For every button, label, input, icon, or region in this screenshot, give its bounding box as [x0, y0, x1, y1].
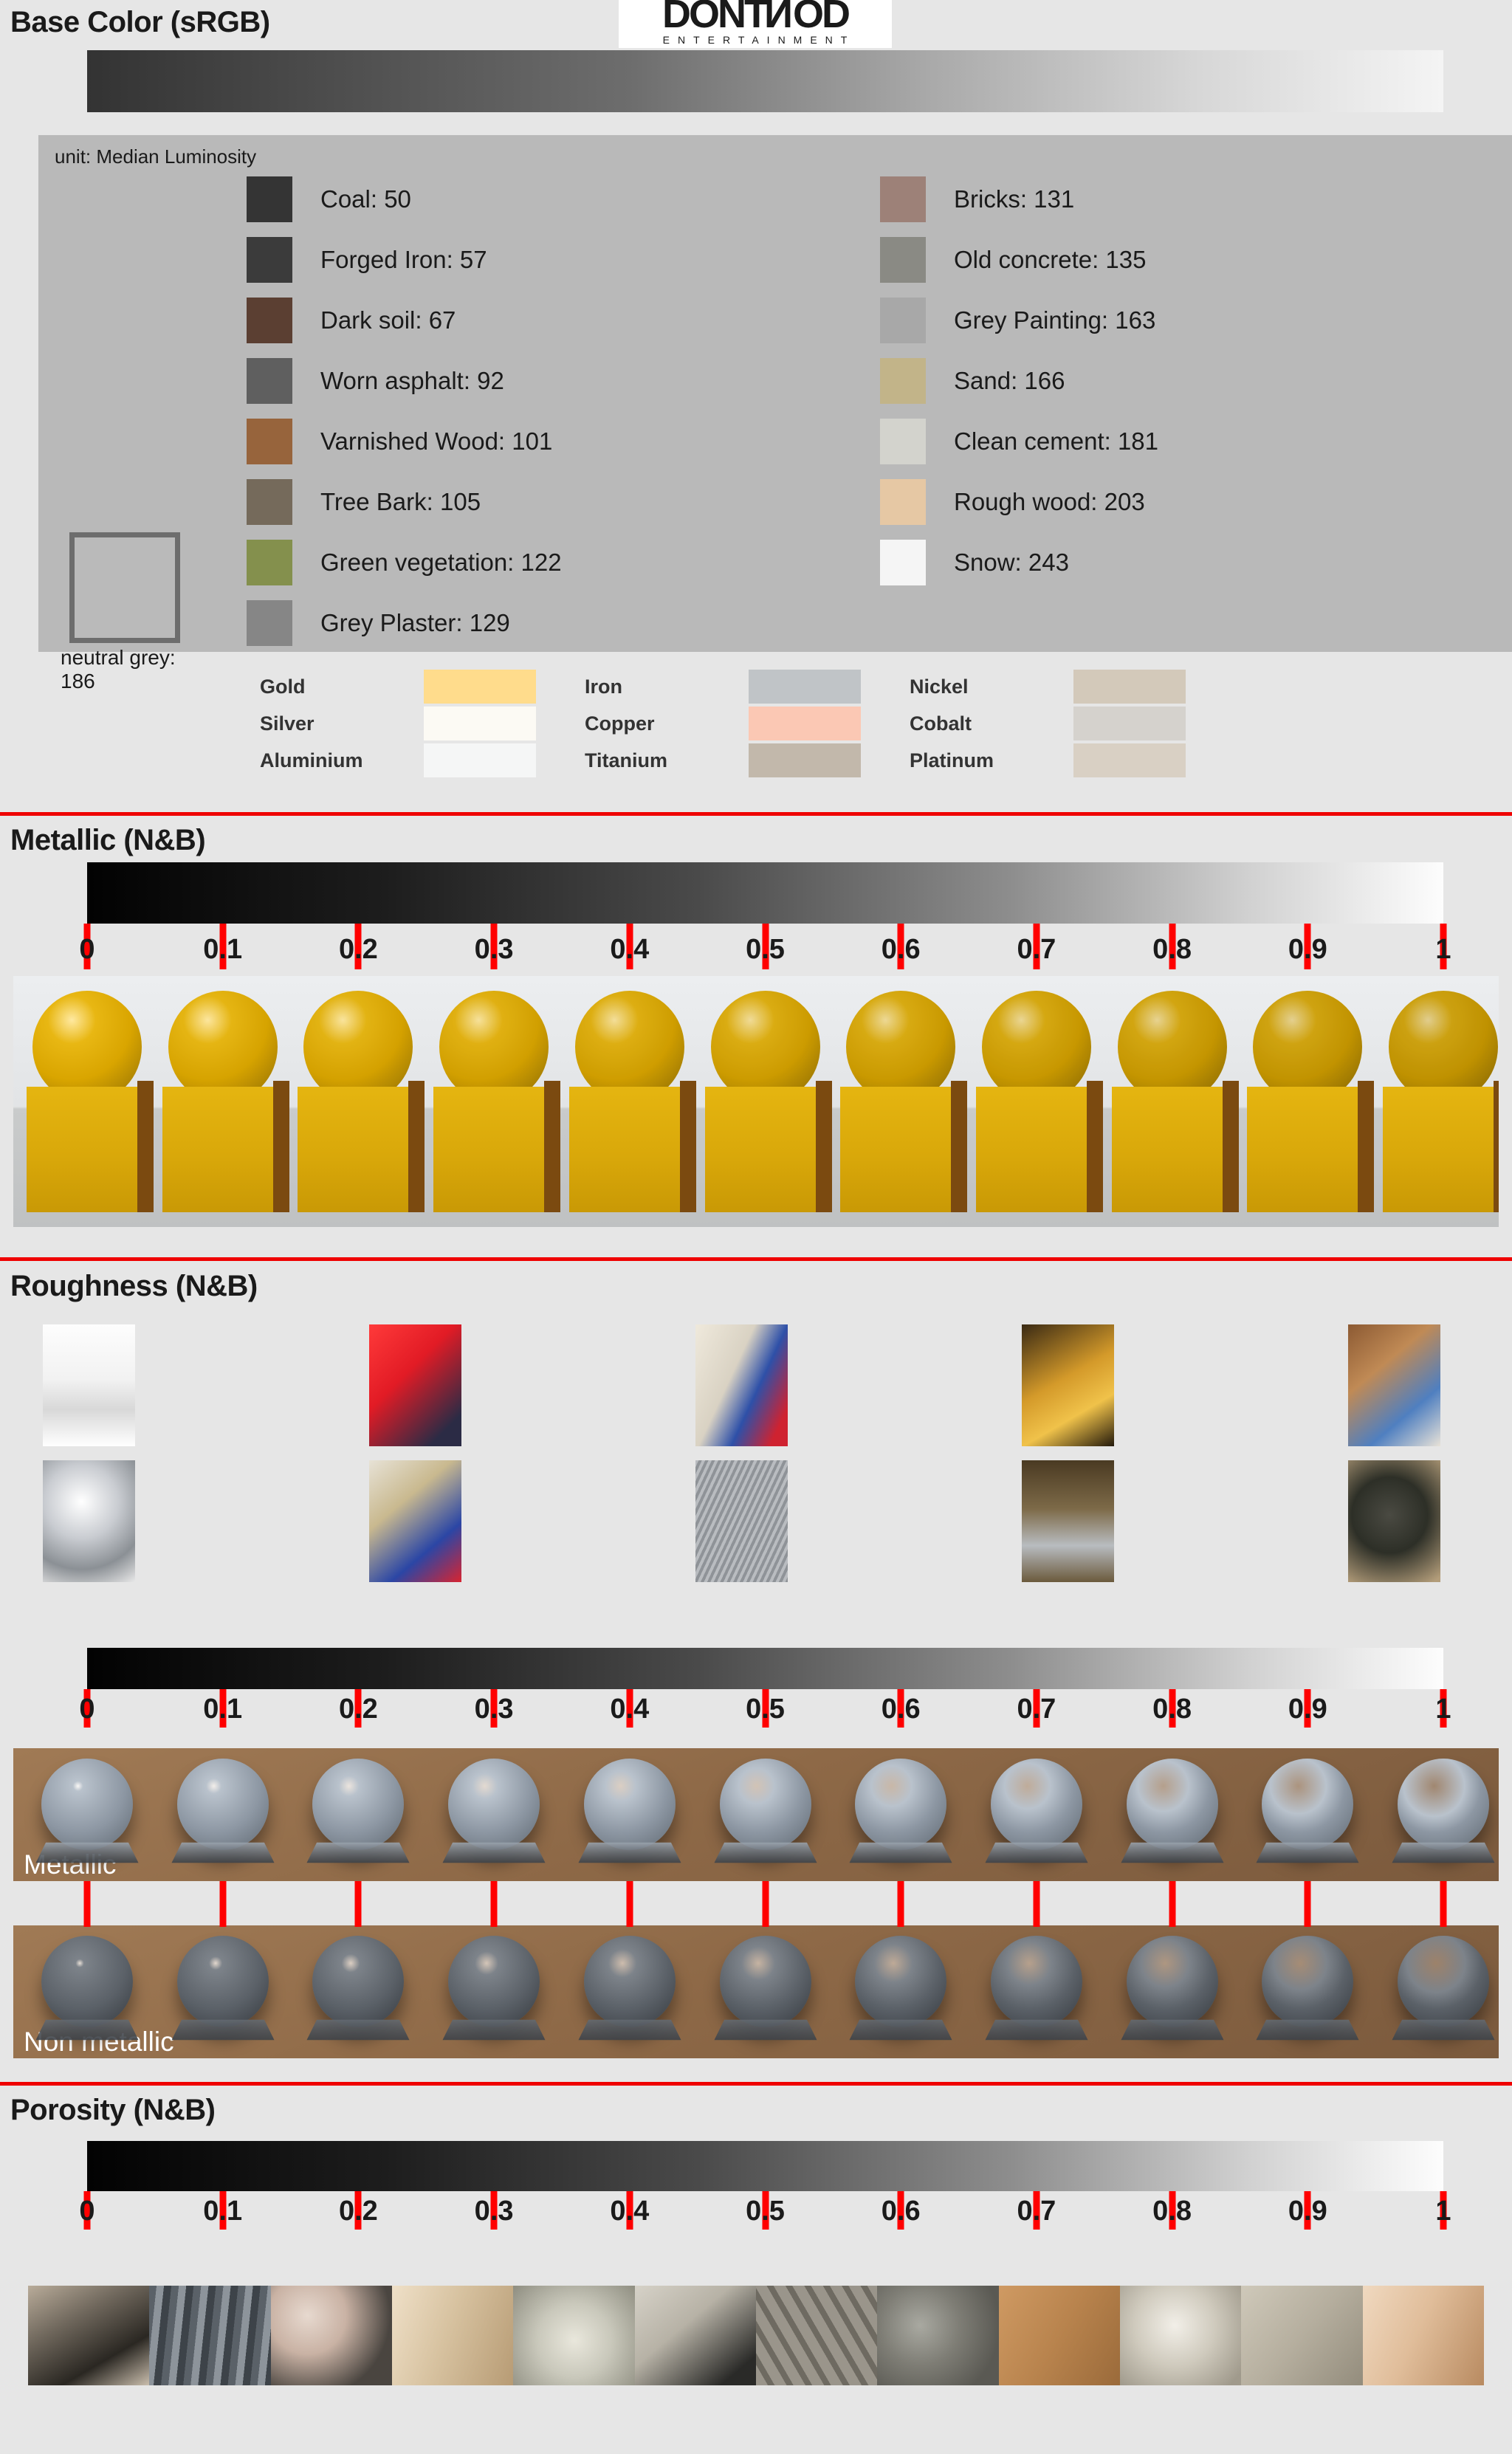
porosity-reference-photo — [635, 2286, 757, 2385]
color-swatch — [247, 237, 292, 283]
list-item: Worn asphalt: 92 — [247, 351, 562, 411]
scale-tick-label: 0.2 — [339, 934, 378, 966]
table-row: Aluminium Titanium Platinum — [260, 742, 1234, 779]
roughness-metal-sphere — [991, 1759, 1082, 1850]
metallic-sample — [972, 991, 1102, 1220]
metallic-sample — [836, 991, 966, 1220]
color-swatch — [247, 419, 292, 464]
metal-label: Silver — [260, 712, 424, 735]
roughness-reference-photo — [695, 1324, 788, 1446]
section-divider — [0, 812, 1512, 816]
swatch-label: Rough wood: 203 — [954, 488, 1145, 516]
scale-tick — [219, 1881, 226, 1927]
scale-tick-label: 0.4 — [610, 1694, 649, 1725]
section-title-metallic: Metallic (N&B) — [0, 818, 205, 857]
sphere-base-plate — [307, 1843, 410, 1863]
scale-tick-label: 0.7 — [1017, 934, 1056, 966]
scale-tick-label: 0 — [79, 934, 94, 966]
scale-tick-label: 0 — [79, 2196, 94, 2227]
metallic-sample — [158, 991, 288, 1220]
color-swatch — [880, 176, 926, 222]
porosity-reference-strip — [28, 2286, 1484, 2385]
scale-tick — [762, 1881, 769, 1927]
porosity-reference-photo — [877, 2286, 999, 2385]
metallic-sample — [1378, 991, 1499, 1220]
scale-tick-label: 0.1 — [203, 1694, 242, 1725]
section-title-porosity: Porosity (N&B) — [0, 2088, 215, 2127]
metallic-cube-side — [680, 1081, 696, 1212]
porosity-reference-photo — [28, 2286, 150, 2385]
scale-tick-label: 0.6 — [882, 2196, 921, 2227]
color-swatch — [880, 540, 926, 585]
metal-swatch — [424, 670, 536, 704]
roughness-dielectric-sphere — [720, 1936, 811, 2027]
scale-tick — [84, 1881, 91, 1927]
porosity-reference-photo — [271, 2286, 393, 2385]
porosity-reference-photo — [756, 2286, 878, 2385]
metal-label: Iron — [585, 676, 749, 698]
roughness-reference-photo — [1022, 1460, 1114, 1582]
sphere-base-plate — [35, 1843, 138, 1863]
sphere-base-plate — [850, 1843, 952, 1863]
dontnod-logo: DONTNOD ENTERTAINMENT — [619, 0, 892, 48]
roughness-metal-sphere — [720, 1759, 811, 1850]
scale-tick-label: 0.6 — [882, 934, 921, 966]
scale-tick-label: 1 — [1435, 1694, 1451, 1725]
metallic-sample — [1243, 991, 1372, 1220]
list-item: Forged Iron: 57 — [247, 230, 562, 290]
color-swatch — [880, 479, 926, 525]
list-item: Sand: 166 — [880, 351, 1158, 411]
metallic-cube — [1112, 1087, 1223, 1212]
neutral-grey-swatch — [69, 532, 180, 643]
scale-tick-label: 0.8 — [1152, 1694, 1192, 1725]
metal-entry: Gold — [260, 670, 585, 704]
scale-tick — [1033, 1881, 1039, 1927]
sphere-base-plate — [443, 1843, 546, 1863]
color-swatch — [247, 479, 292, 525]
metallic-viewport — [13, 976, 1499, 1227]
section-divider — [0, 2082, 1512, 2086]
metal-entry: Silver — [260, 707, 585, 740]
scale-tick-label: 0.7 — [1017, 2196, 1056, 2227]
scale-tick-label: 1 — [1435, 2196, 1451, 2227]
metal-label: Platinum — [910, 749, 1073, 772]
porosity-reference-photo — [1241, 2286, 1363, 2385]
roughness-reference-photo — [43, 1460, 135, 1582]
metal-swatch — [749, 743, 861, 777]
roughness-nonmetallic-row: Non metallic — [13, 1925, 1499, 2058]
scale-tick-label: 0.2 — [339, 2196, 378, 2227]
scale-tick-label: 0.6 — [882, 1694, 921, 1725]
metal-swatch — [1073, 743, 1186, 777]
sphere-base-plate — [1121, 2020, 1223, 2040]
base-color-gradient-bar — [87, 50, 1443, 112]
roughness-reference-grid — [0, 1314, 1512, 1587]
porosity-gradient-bar — [87, 2141, 1443, 2191]
metallic-sample — [293, 991, 423, 1220]
color-swatch — [247, 600, 292, 646]
metallic-cube — [298, 1087, 408, 1212]
metal-entry: Titanium — [585, 743, 910, 777]
roughness-metal-sphere — [584, 1759, 676, 1850]
metallic-cube-side — [1494, 1081, 1499, 1212]
scale-tick — [626, 1881, 633, 1927]
swatch-label: Coal: 50 — [320, 185, 411, 213]
scale-tick-label: 0.4 — [610, 934, 649, 966]
metals-table: Gold Iron Nickel Silver Copper Cobalt Al… — [260, 668, 1234, 779]
swatch-label: Green vegetation: 122 — [320, 549, 562, 577]
metallic-gradient-bar — [87, 862, 1443, 924]
metal-entry: Cobalt — [910, 707, 1234, 740]
scale-tick — [1440, 1881, 1447, 1927]
roughness-reference-photo — [43, 1324, 135, 1446]
scale-tick-label: 0.9 — [1288, 934, 1327, 966]
roughness-dielectric-sphere — [584, 1936, 676, 2027]
metal-label: Cobalt — [910, 712, 1073, 735]
scale-tick — [355, 1881, 362, 1927]
metal-label: Aluminium — [260, 749, 424, 772]
list-item: Tree Bark: 105 — [247, 472, 562, 532]
sphere-base-plate — [1121, 1843, 1223, 1863]
roughness-metal-sphere — [1262, 1759, 1353, 1850]
sphere-base-plate — [714, 1843, 817, 1863]
scale-tick-label: 0.7 — [1017, 1694, 1056, 1725]
sphere-base-plate — [35, 2020, 138, 2040]
metal-entry: Platinum — [910, 743, 1234, 777]
metal-entry: Nickel — [910, 670, 1234, 704]
roughness-metal-sphere — [448, 1759, 540, 1850]
scale-tick-label: 0 — [79, 1694, 94, 1725]
metallic-cube-side — [544, 1081, 560, 1212]
roughness-metal-sphere — [1127, 1759, 1218, 1850]
color-swatch — [880, 419, 926, 464]
roughness-dielectric-sphere — [1398, 1936, 1489, 2027]
scale-tick-label: 0.3 — [475, 934, 514, 966]
metallic-sphere-cube-row — [13, 976, 1499, 1227]
sphere-base-plate — [985, 2020, 1087, 2040]
metal-entry: Copper — [585, 707, 910, 740]
roughness-dielectric-sphere — [1262, 1936, 1353, 2027]
logo-wordmark: DONTNOD — [619, 0, 892, 33]
scale-tick-label: 0.5 — [746, 934, 785, 966]
metal-entry: Iron — [585, 670, 910, 704]
scale-tick — [898, 1881, 904, 1927]
list-item: Varnished Wood: 101 — [247, 411, 562, 472]
metallic-cube — [569, 1087, 680, 1212]
swatch-label: Sand: 166 — [954, 367, 1065, 395]
metallic-cube — [27, 1087, 137, 1212]
metallic-cube-side — [951, 1081, 967, 1212]
roughness-metal-sphere — [855, 1759, 946, 1850]
scale-tick — [1169, 1881, 1175, 1927]
metallic-cube-side — [1223, 1081, 1239, 1212]
base-color-legend-panel: unit: Median Luminosity neutral grey: 18… — [38, 135, 1512, 652]
scale-tick-label: 0.9 — [1288, 1694, 1327, 1725]
metal-label: Copper — [585, 712, 749, 735]
roughness-dielectric-sphere — [1127, 1936, 1218, 2027]
metal-swatch — [749, 707, 861, 740]
sphere-base-plate — [985, 1843, 1087, 1863]
metallic-sample — [429, 991, 559, 1220]
scale-tick-label: 0.9 — [1288, 2196, 1327, 2227]
roughness-reference-photo — [369, 1324, 461, 1446]
section-title-roughness: Roughness (N&B) — [0, 1264, 258, 1303]
porosity-reference-photo — [1363, 2286, 1484, 2385]
table-row: Gold Iron Nickel — [260, 668, 1234, 705]
roughness-dielectric-sphere — [312, 1936, 404, 2027]
color-swatch — [880, 237, 926, 283]
metallic-cube-side — [273, 1081, 289, 1212]
metallic-sample — [701, 991, 831, 1220]
swatch-label: Worn asphalt: 92 — [320, 367, 504, 395]
metallic-cube — [433, 1087, 544, 1212]
roughness-reference-photo — [1348, 1324, 1440, 1446]
roughness-scale: 00.10.20.30.40.50.60.70.80.91 — [0, 1689, 1512, 1726]
section-base-color: Base Color (sRGB) DONTNOD ENTERTAINMENT … — [0, 0, 1512, 39]
list-item: Bricks: 131 — [880, 169, 1158, 230]
porosity-reference-photo — [149, 2286, 271, 2385]
metallic-cube — [162, 1087, 273, 1212]
metallic-cube — [705, 1087, 816, 1212]
sphere-base-plate — [443, 2020, 546, 2040]
metallic-cube — [1247, 1087, 1358, 1212]
metal-entry: Aluminium — [260, 743, 585, 777]
metallic-sample — [1107, 991, 1237, 1220]
metal-label: Gold — [260, 676, 424, 698]
swatch-label: Grey Painting: 163 — [954, 306, 1155, 334]
logo-subtitle: ENTERTAINMENT — [619, 33, 892, 48]
scale-tick-label: 0.3 — [475, 1694, 514, 1725]
sphere-base-plate — [850, 2020, 952, 2040]
list-item: Grey Painting: 163 — [880, 290, 1158, 351]
scale-tick-label: 0.1 — [203, 2196, 242, 2227]
list-item: Grey Plaster: 129 — [247, 593, 562, 653]
sphere-base-plate — [714, 2020, 817, 2040]
list-item: Rough wood: 203 — [880, 472, 1158, 532]
metal-label: Titanium — [585, 749, 749, 772]
swatch-label: Bricks: 131 — [954, 185, 1074, 213]
metal-swatch — [749, 670, 861, 704]
roughness-dielectric-sphere — [41, 1936, 133, 2027]
scale-tick-label: 0.1 — [203, 934, 242, 966]
scale-tick-label: 0.8 — [1152, 934, 1192, 966]
scale-tick-label: 0.8 — [1152, 2196, 1192, 2227]
scale-tick — [1305, 1881, 1311, 1927]
sphere-base-plate — [578, 1843, 681, 1863]
color-swatch — [247, 358, 292, 404]
swatch-label: Dark soil: 67 — [320, 306, 456, 334]
scale-tick-label: 0.5 — [746, 2196, 785, 2227]
sphere-base-plate — [307, 2020, 410, 2040]
metal-label: Nickel — [910, 676, 1073, 698]
metallic-cube — [1383, 1087, 1494, 1212]
metallic-cube-side — [408, 1081, 425, 1212]
roughness-reference-photo — [695, 1460, 788, 1582]
roughness-dielectric-sphere — [448, 1936, 540, 2027]
metal-swatch — [1073, 670, 1186, 704]
roughness-metal-sphere — [41, 1759, 133, 1850]
metallic-cube-side — [1358, 1081, 1374, 1212]
list-item: Snow: 243 — [880, 532, 1158, 593]
porosity-reference-photo — [513, 2286, 635, 2385]
porosity-reference-photo — [999, 2286, 1121, 2385]
list-item: Green vegetation: 122 — [247, 532, 562, 593]
metallic-cube — [976, 1087, 1087, 1212]
scale-tick — [491, 1881, 498, 1927]
roughness-dielectric-sphere — [991, 1936, 1082, 2027]
scale-tick-label: 0.5 — [746, 1694, 785, 1725]
list-item: Dark soil: 67 — [247, 290, 562, 351]
metallic-scale: 00.10.20.30.40.50.60.70.80.91 — [0, 924, 1512, 968]
color-swatch — [880, 358, 926, 404]
metallic-cube-side — [137, 1081, 154, 1212]
roughness-reference-photo — [369, 1460, 461, 1582]
metallic-cube-side — [1087, 1081, 1103, 1212]
porosity-reference-photo — [392, 2286, 514, 2385]
scale-tick-label: 1 — [1435, 934, 1451, 966]
list-item: Old concrete: 135 — [880, 230, 1158, 290]
roughness-reference-photo — [1348, 1460, 1440, 1582]
base-color-list-left: Coal: 50 Forged Iron: 57 Dark soil: 67 W… — [247, 169, 562, 653]
neutral-grey-label: neutral grey: 186 — [61, 646, 193, 693]
metallic-cube-side — [816, 1081, 832, 1212]
roughness-dielectric-sphere — [177, 1936, 269, 2027]
metal-swatch — [1073, 707, 1186, 740]
sphere-base-plate — [578, 2020, 681, 2040]
color-swatch — [247, 176, 292, 222]
metallic-cube — [840, 1087, 951, 1212]
scale-tick-label: 0.2 — [339, 1694, 378, 1725]
metallic-sample — [565, 991, 695, 1220]
list-item: Clean cement: 181 — [880, 411, 1158, 472]
scale-tick-bridges — [0, 1881, 1512, 1927]
metallic-sample — [22, 991, 152, 1220]
roughness-metallic-row: Metallic — [13, 1748, 1499, 1881]
unit-label: unit: Median Luminosity — [55, 145, 256, 168]
sphere-base-plate — [171, 1843, 274, 1863]
roughness-reference-photo — [1022, 1324, 1114, 1446]
roughness-metal-sphere — [312, 1759, 404, 1850]
roughness-metal-sphere — [177, 1759, 269, 1850]
base-color-list-right: Bricks: 131 Old concrete: 135 Grey Paint… — [880, 169, 1158, 593]
color-swatch — [247, 540, 292, 585]
roughness-metal-sphere — [1398, 1759, 1489, 1850]
color-swatch — [247, 298, 292, 343]
swatch-label: Forged Iron: 57 — [320, 246, 487, 274]
sphere-base-plate — [171, 2020, 274, 2040]
swatch-label: Snow: 243 — [954, 549, 1069, 577]
swatch-label: Clean cement: 181 — [954, 427, 1158, 456]
swatch-label: Old concrete: 135 — [954, 246, 1147, 274]
table-row: Silver Copper Cobalt — [260, 705, 1234, 742]
porosity-reference-photo — [1120, 2286, 1242, 2385]
scale-tick-label: 0.4 — [610, 2196, 649, 2227]
color-swatch — [880, 298, 926, 343]
swatch-label: Grey Plaster: 129 — [320, 609, 510, 637]
roughness-gradient-bar — [87, 1648, 1443, 1689]
scale-tick-label: 0.3 — [475, 2196, 514, 2227]
section-divider — [0, 1257, 1512, 1261]
roughness-dielectric-sphere — [855, 1936, 946, 2027]
swatch-label: Tree Bark: 105 — [320, 488, 481, 516]
metal-swatch — [424, 707, 536, 740]
porosity-scale: 00.10.20.30.40.50.60.70.80.91 — [0, 2191, 1512, 2228]
metal-swatch — [424, 743, 536, 777]
swatch-label: Varnished Wood: 101 — [320, 427, 552, 456]
list-item: Coal: 50 — [247, 169, 562, 230]
